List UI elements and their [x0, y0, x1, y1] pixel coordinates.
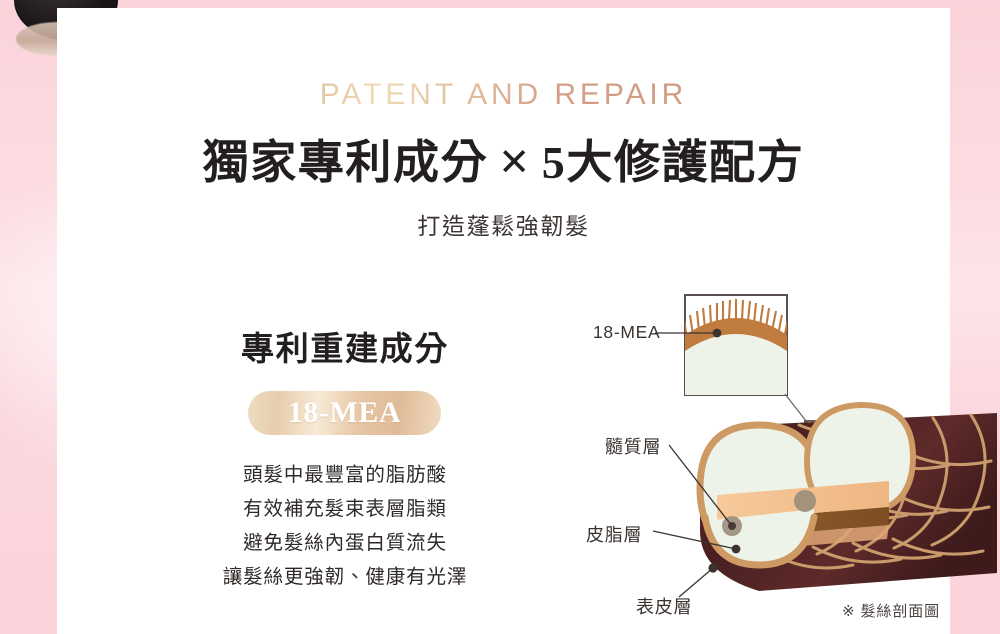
mea-marker-dot: [713, 329, 722, 338]
label-18-mea: 18-MEA: [593, 322, 660, 343]
benefit-list: 頭髮中最豐富的脂肪酸 有效補充髮束表層脂類 避免髮絲內蛋白質流失 讓髮絲更強韌、…: [140, 458, 550, 594]
page-subtitle: 打造蓬鬆強韌髮: [57, 207, 950, 241]
ingredient-badge: 18-MEA: [248, 391, 441, 435]
section-heading: 專利重建成分: [170, 322, 520, 370]
promo-page: PATENT AND REPAIR 獨家專利成分✕5大修護配方 打造蓬鬆強韌髮 …: [0, 0, 1000, 634]
title-multiply-symbol: ✕: [488, 142, 541, 184]
ingredient-badge-label: 18-MEA: [288, 396, 402, 430]
label-medulla: 髓質層: [605, 433, 661, 459]
label-epidermis: 表皮層: [636, 593, 692, 619]
page-title: 獨家專利成分✕5大修護配方: [57, 126, 950, 192]
title-right-text: 5大修護配方: [542, 137, 805, 188]
hair-cross-section-diagram: 18-MEA 髓質層 皮脂層 表皮層 ※ 髮絲剖面圖: [527, 273, 1000, 633]
title-left-text: 獨家專利成分: [203, 137, 489, 188]
benefit-item: 避免髮絲內蛋白質流失: [140, 526, 550, 560]
content-card: PATENT AND REPAIR 獨家專利成分✕5大修護配方 打造蓬鬆強韌髮 …: [57, 8, 950, 634]
diagram-footnote: ※ 髮絲剖面圖: [842, 600, 940, 621]
eyebrow-heading: PATENT AND REPAIR: [57, 78, 950, 112]
hair-shaft: [700, 405, 997, 591]
benefit-item: 讓髮絲更強韌、健康有光澤: [140, 560, 550, 594]
label-sebum: 皮脂層: [586, 521, 642, 547]
benefit-item: 有效補充髮束表層脂類: [140, 492, 550, 526]
medulla-dot-rear: [794, 490, 816, 512]
benefit-item: 頭髮中最豐富的脂肪酸: [140, 458, 550, 492]
